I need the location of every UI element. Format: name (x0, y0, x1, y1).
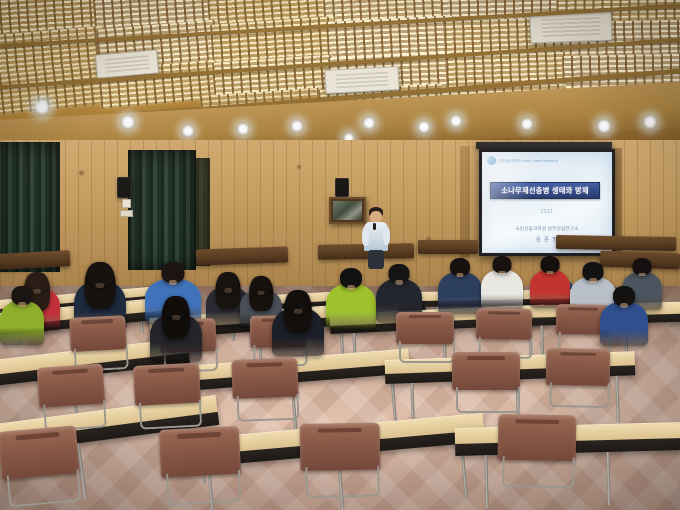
ceiling-downlight (596, 118, 612, 134)
wall-speaker-icon (117, 177, 132, 198)
ceiling-downlight (33, 98, 51, 116)
attendee-white-shirt (481, 256, 523, 313)
ceiling-downlight (417, 120, 431, 134)
front-bench (556, 235, 676, 251)
attendee-front-dark (150, 296, 202, 366)
slide-year: 2011 (482, 209, 612, 215)
person-neck (547, 271, 554, 275)
slide-logo-text: 국립산림과학원 Korea Forest Research (498, 158, 558, 163)
person-torso (481, 270, 523, 310)
person-torso (600, 302, 648, 346)
attendee-navy-center (272, 290, 324, 360)
chair-frame (305, 466, 380, 498)
person-torso (530, 270, 570, 308)
person-neck (18, 302, 26, 306)
person-neck (395, 280, 403, 284)
ceiling-downlight (362, 116, 376, 130)
person-neck (639, 273, 646, 277)
slide-logo: 국립산림과학원 Korea Forest Research (487, 156, 558, 165)
chair (452, 352, 520, 390)
chair (37, 363, 106, 408)
lecture-hall-photo: 국립산림과학원 Korea Forest Research 소나무재선충병 생태… (0, 0, 680, 510)
person-neck (499, 271, 506, 275)
person-neck (294, 309, 303, 314)
chair (133, 363, 201, 406)
ceiling-downlight (181, 124, 195, 138)
person-torso (326, 284, 376, 330)
chair (396, 312, 454, 344)
chair-frame (549, 382, 610, 408)
ceiling-downlight (120, 114, 136, 130)
person-neck (224, 288, 232, 292)
chair (498, 414, 577, 461)
chair (546, 348, 611, 386)
attendee-olive-left (0, 286, 44, 349)
slide-title-bar: 소나무재선충병 생태와 방제 (490, 182, 600, 199)
wall-plate (122, 199, 131, 208)
screen-housing (476, 142, 612, 149)
presenter (358, 207, 394, 269)
person-neck (347, 285, 355, 289)
logo-mark-icon (487, 156, 496, 165)
chair (476, 308, 533, 340)
person-neck (172, 315, 181, 320)
chair-frame (237, 394, 300, 422)
chair-frame (139, 399, 202, 429)
person-neck (169, 280, 177, 285)
curtain-left (128, 150, 196, 270)
ceiling-downlight (449, 114, 463, 128)
front-bench (418, 240, 478, 254)
chair-frame (456, 387, 520, 413)
chair (69, 315, 127, 352)
person-neck (257, 291, 264, 295)
chair-frame (502, 456, 575, 488)
person-neck (456, 273, 463, 277)
chair (231, 358, 298, 399)
ceiling-downlight (290, 119, 304, 133)
person-neck (620, 303, 628, 307)
person-torso (0, 301, 44, 345)
slide-organization: 국립산림과학원 남부산림연구소 (482, 226, 612, 232)
ceiling-downlight (236, 122, 250, 136)
chair (300, 423, 381, 471)
attendee-cap-green (326, 268, 376, 334)
person-neck (95, 283, 104, 288)
slide-title: 소나무재선충병 생태와 방제 (501, 186, 589, 196)
wall-speaker-icon (335, 178, 349, 197)
ceiling-downlight (642, 114, 658, 130)
ceiling-ac-unit (324, 66, 399, 94)
chair-frame (166, 470, 242, 506)
chair-frame (399, 341, 454, 363)
front-bench (196, 246, 289, 265)
chair-frame (6, 469, 81, 507)
attendee-blue-lower (600, 286, 648, 350)
ceiling-downlight (520, 117, 534, 131)
wall-plate (120, 210, 133, 217)
chair (159, 426, 241, 478)
attendee-red-right (530, 256, 570, 311)
person-neck (589, 278, 597, 282)
chair (0, 425, 80, 480)
